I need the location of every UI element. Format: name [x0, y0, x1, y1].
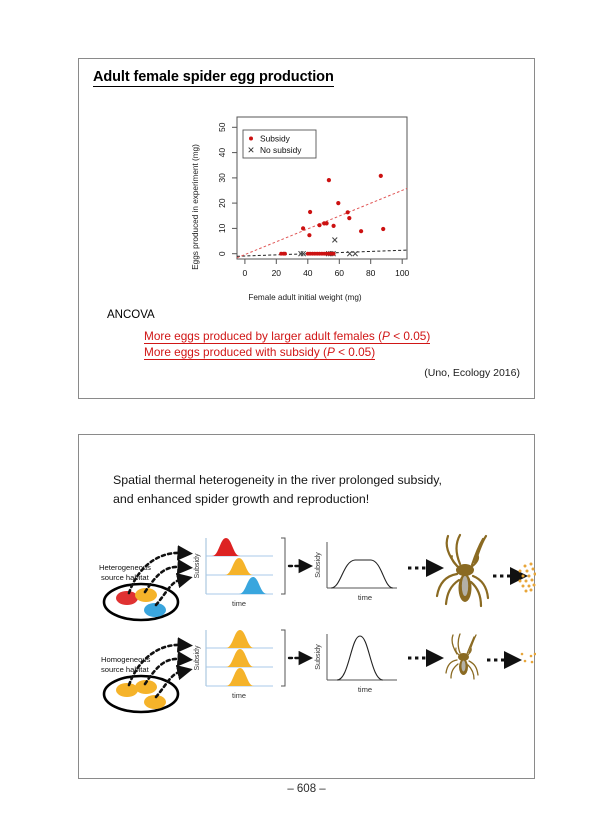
y-axis-title: Eggs produced in experiment (mg): [191, 144, 200, 270]
analysis-label: ANCOVA: [107, 309, 155, 321]
habitat-patch-red: [116, 591, 138, 605]
subsidy-peak-yellow: [225, 558, 253, 575]
aggregate-curve-plateau: [331, 560, 393, 588]
aggregate-plot-heterogeneous: Subsidy time: [313, 542, 397, 602]
slide-panel-conclusion: Spatial thermal heterogeneity in the riv…: [78, 434, 535, 779]
x-tick-20: 20: [272, 268, 282, 278]
legend-marker-subsidy: [249, 137, 253, 141]
y-tick-0: 0: [217, 251, 227, 256]
result-2-text: More eggs produced with subsidy: [144, 345, 323, 360]
series-subsidy: [279, 174, 385, 256]
subsidy-panel-heterogeneous: Subsidy time: [194, 538, 285, 608]
panel-axis-x-heterogeneous: time: [232, 599, 246, 608]
subsidy-peak-blue: [239, 577, 267, 594]
result-line-2: More eggs produced with subsidy (P < 0.0…: [144, 345, 375, 359]
aggregate-axis-x-homogeneous: time: [358, 685, 372, 694]
result-2-p-symbol: P: [327, 345, 335, 359]
subsidy-peak-yellow-3: [226, 668, 254, 686]
page-number: – 608 –: [0, 783, 613, 795]
result-1-p-symbol: P: [382, 329, 390, 343]
slide-title: Adult female spider egg production: [93, 69, 334, 87]
y-tick-40: 40: [217, 148, 227, 158]
habitat-label-homogeneous-line2: source habitat: [101, 665, 150, 674]
y-tick-50: 50: [217, 122, 227, 132]
diagram-row-homogeneous: Homogeneous source habitat Subsidy t: [101, 630, 536, 712]
result-2-p-rest: < 0.05): [335, 345, 375, 359]
result-1-text: More eggs produced by larger adult femal…: [144, 329, 378, 344]
egg-cluster-few: [521, 653, 536, 664]
aggregate-plot-homogeneous: Subsidy time: [313, 634, 397, 694]
x-tick-100: 100: [395, 268, 409, 278]
panel-axis-x-homogeneous: time: [232, 691, 246, 700]
conceptual-diagram: Heterogeneous source habitat: [79, 530, 536, 730]
chart-legend: Subsidy No subsidy: [243, 130, 316, 158]
slide-panel-egg-production: Adult female spider egg production Eggs …: [78, 58, 535, 399]
egg-cluster-many: [519, 563, 537, 593]
aggregate-curve-narrow-peak: [337, 636, 383, 680]
x-axis-title: Female adult initial weight (mg): [248, 293, 362, 302]
result-1-p-rest: < 0.05): [390, 329, 430, 343]
conclusion-heading-line1: Spatial thermal heterogeneity in the riv…: [113, 471, 513, 490]
spider-small: [446, 634, 478, 679]
y-tick-10: 10: [217, 223, 227, 233]
x-tick-0: 0: [243, 268, 248, 278]
aggregate-axis-y-homogeneous: Subsidy: [313, 644, 322, 670]
trendline-subsidy: [237, 188, 407, 257]
diagram-row-heterogeneous: Heterogeneous source habitat: [99, 535, 536, 620]
aggregate-axis-y-heterogeneous: Subsidy: [313, 552, 322, 578]
citation: (Uno, Ecology 2016): [424, 367, 520, 379]
conclusion-heading-line2: and enhanced spider growth and reproduct…: [113, 490, 513, 509]
x-tick-60: 60: [335, 268, 345, 278]
conclusion-heading: Spatial thermal heterogeneity in the riv…: [113, 471, 513, 509]
spider-large: [437, 535, 488, 606]
legend-label-no-subsidy: No subsidy: [260, 145, 302, 155]
subsidy-panel-homogeneous: Subsidy time: [194, 630, 285, 700]
aggregate-axis-x-heterogeneous: time: [358, 593, 372, 602]
legend-label-subsidy: Subsidy: [260, 134, 291, 144]
y-tick-20: 20: [217, 198, 227, 208]
x-tick-40: 40: [303, 268, 313, 278]
habitat-label-heterogeneous-line2: source habitat: [101, 573, 150, 582]
scatter-plot-egg-production: Eggs produced in experiment (mg) Female …: [189, 107, 419, 307]
x-tick-80: 80: [366, 268, 376, 278]
y-tick-30: 30: [217, 173, 227, 183]
result-line-1: More eggs produced by larger adult femal…: [144, 329, 430, 343]
subsidy-peak-red: [212, 538, 240, 556]
subsidy-peak-yellow-2: [226, 649, 254, 667]
habitat-patch-yellow-1: [116, 683, 138, 697]
panel-axis-y-homogeneous: Subsidy: [194, 645, 201, 670]
panel-axis-y-heterogeneous: Subsidy: [194, 553, 201, 578]
subsidy-peak-yellow-1: [226, 630, 254, 648]
